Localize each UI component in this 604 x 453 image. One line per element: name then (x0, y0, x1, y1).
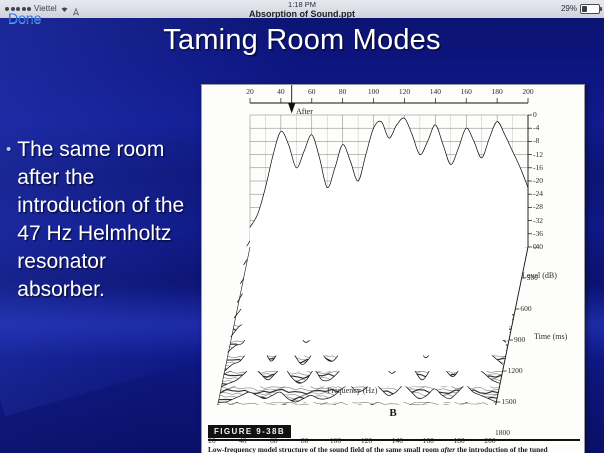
slide-bullet-text: The same room after the introduction of … (17, 136, 196, 304)
caption-part-1: Low-frequency model structure of the sou… (208, 445, 441, 453)
x-tick-top-40: 40 (277, 87, 285, 96)
z-tick-1200: 1200 (508, 366, 523, 375)
ios-status-bar: Viettel 1:18 PM Absorption of Sound.ppt … (0, 0, 604, 18)
axis-label-time: Time (ms) (534, 332, 567, 341)
y-tick--28: -28 (533, 202, 543, 211)
y-tick--24: -24 (533, 189, 543, 198)
x-tick-top-160: 160 (461, 87, 472, 96)
x-tick-top-180: 180 (491, 87, 502, 96)
after-annotation-label: After (296, 107, 313, 116)
x-tick-top-60: 60 (308, 87, 316, 96)
y-tick--16: -16 (533, 163, 543, 172)
figure-panel-letter: B (202, 407, 584, 419)
badge-rule (208, 439, 580, 441)
x-tick-top-140: 140 (430, 87, 441, 96)
figure-number-badge: FIGURE 9-38B (208, 425, 291, 438)
status-bar-center: 1:18 PM Absorption of Sound.ppt (0, 0, 604, 19)
slide-bullet-item: • The same room after the introduction o… (6, 136, 196, 304)
done-button[interactable]: Done (8, 10, 41, 26)
waterfall-chart: 2040608010012014016018020020406080100120… (202, 85, 584, 405)
x-tick-top-100: 100 (368, 87, 379, 96)
x-tick-top-120: 120 (399, 87, 410, 96)
figure-caption-block: FIGURE 9-38B Low-frequency model structu… (208, 421, 580, 453)
axis-label-level: Level (dB) (522, 271, 557, 280)
presentation-slide[interactable]: Taming Room Modes • The same room after … (0, 18, 604, 453)
caption-emphasis: after (441, 445, 455, 453)
y-tick-0: 0 (533, 110, 537, 119)
z-tick-1500: 1500 (501, 397, 516, 406)
y-tick--12: -12 (533, 150, 543, 159)
y-tick--32: -32 (533, 216, 543, 225)
screen-root: Viettel 1:18 PM Absorption of Sound.ppt … (0, 0, 604, 453)
x-tick-top-20: 20 (246, 87, 254, 96)
figure-card[interactable]: 2040608010012014016018020020406080100120… (201, 84, 585, 453)
battery-fill (582, 6, 587, 12)
figure-caption-text: Low-frequency model structure of the sou… (208, 445, 580, 453)
battery-icon (580, 4, 600, 14)
z-tick-0: 0 (533, 242, 537, 251)
battery-percent-label: 29% (561, 0, 577, 18)
x-tick-top-80: 80 (339, 87, 347, 96)
status-bar-right: 29% (561, 0, 600, 18)
x-tick-top-200: 200 (522, 87, 533, 96)
clock-label: 1:18 PM (0, 0, 604, 9)
y-tick--4: -4 (533, 123, 539, 132)
y-tick--8: -8 (533, 136, 539, 145)
axis-label-frequency: Frequency (Hz) (327, 386, 377, 395)
bullet-marker-icon: • (6, 136, 11, 304)
y-tick--36: -36 (533, 229, 543, 238)
slide-title: Taming Room Modes (0, 24, 604, 57)
z-tick-600: 600 (520, 304, 531, 313)
z-tick-900: 900 (514, 335, 525, 344)
y-tick--20: -20 (533, 176, 543, 185)
waterfall-chart-svg (202, 85, 584, 405)
